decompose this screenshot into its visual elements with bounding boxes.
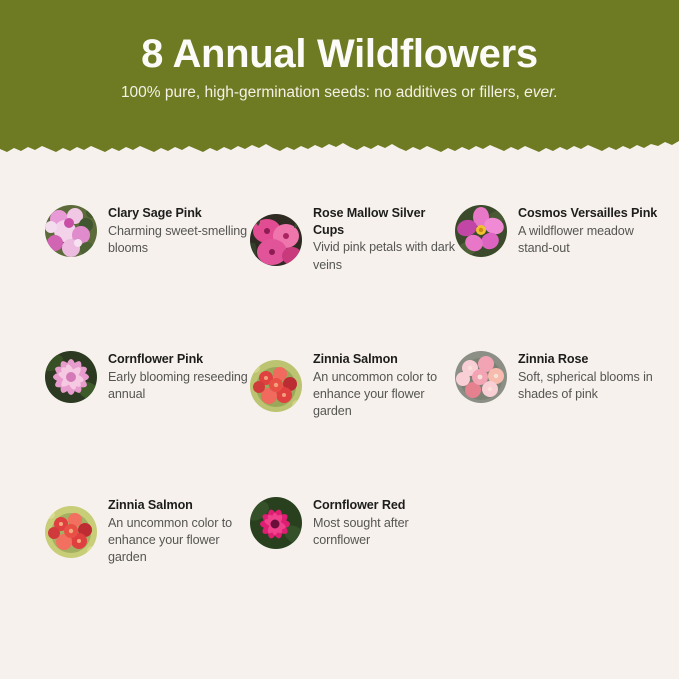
cosmos-versailles-pink-thumbnail [455,205,507,257]
zinnia-salmon-thumbnail-2 [45,506,97,558]
list-item-title: Zinnia Rose [518,351,660,368]
list-item-info: Cornflower Pink Early blooming reseeding… [97,351,250,404]
list-item-info: Rose Mallow Silver Cups Vivid pink petal… [302,205,455,275]
zinnia-rose-thumbnail [455,351,507,403]
list-item-info: Cosmos Versailles Pink A wildflower mead… [507,205,660,258]
wildflower-row-2: Cornflower Pink Early blooming reseeding… [0,351,679,497]
list-item-description: An uncommon color to enhance your flower… [313,369,455,420]
cornflower-red-thumbnail [250,497,302,549]
list-item-title: Rose Mallow Silver Cups [313,205,455,238]
list-item-info: Zinnia Rose Soft, spherical blooms in sh… [507,351,660,404]
list-item[interactable]: Zinnia Salmon An uncommon color to enhan… [45,497,250,567]
list-item[interactable]: Cornflower Red Most sought after cornflo… [250,497,455,550]
list-item-info: Cornflower Red Most sought after cornflo… [302,497,455,550]
clary-sage-pink-thumbnail [45,205,97,257]
header-banner: 8 Annual Wildflowers 100% pure, high-ger… [0,0,679,160]
subtitle-lead: 100% pure, high-germination seeds: no ad… [121,84,524,101]
list-item-title: Cornflower Pink [108,351,250,368]
list-item[interactable]: Cosmos Versailles Pink A wildflower mead… [455,205,660,258]
list-item-info: Clary Sage Pink Charming sweet-smelling … [97,205,250,258]
page-title: 8 Annual Wildflowers [0,0,679,75]
rose-mallow-silver-cups-thumbnail [250,214,302,266]
list-item-description: Early blooming reseeding annual [108,369,250,403]
list-item-title: Zinnia Salmon [313,351,455,368]
list-item-info: Zinnia Salmon An uncommon color to enhan… [97,497,250,567]
list-item[interactable]: Cornflower Pink Early blooming reseeding… [45,351,250,404]
list-item[interactable]: Clary Sage Pink Charming sweet-smelling … [45,205,250,258]
list-item-info: Zinnia Salmon An uncommon color to enhan… [302,351,455,421]
list-item-description: An uncommon color to enhance your flower… [108,515,250,566]
list-item-title: Cornflower Red [313,497,455,514]
list-item[interactable]: Zinnia Salmon An uncommon color to enhan… [250,351,455,421]
cornflower-pink-thumbnail [45,351,97,403]
list-item-title: Clary Sage Pink [108,205,250,222]
wildflower-row-1: Clary Sage Pink Charming sweet-smelling … [0,205,679,351]
list-item[interactable]: Rose Mallow Silver Cups Vivid pink petal… [250,205,455,275]
list-item-title: Cosmos Versailles Pink [518,205,660,222]
list-item-description: Soft, spherical blooms in shades of pink [518,369,660,403]
wildflower-list: Clary Sage Pink Charming sweet-smelling … [0,205,679,643]
page-subtitle: 100% pure, high-germination seeds: no ad… [0,75,679,103]
list-item-description: Vivid pink petals with dark veins [313,239,455,273]
banner-text-block: 8 Annual Wildflowers 100% pure, high-ger… [0,0,679,103]
list-item-description: A wildflower meadow stand-out [518,223,660,257]
list-item-title: Zinnia Salmon [108,497,250,514]
wildflower-row-3: Zinnia Salmon An uncommon color to enhan… [0,497,679,643]
list-item-description: Charming sweet-smelling blooms [108,223,250,257]
list-item[interactable]: Zinnia Rose Soft, spherical blooms in sh… [455,351,660,404]
zinnia-salmon-thumbnail [250,360,302,412]
list-item-description: Most sought after cornflower [313,515,455,549]
subtitle-emphasis: ever. [524,84,558,101]
